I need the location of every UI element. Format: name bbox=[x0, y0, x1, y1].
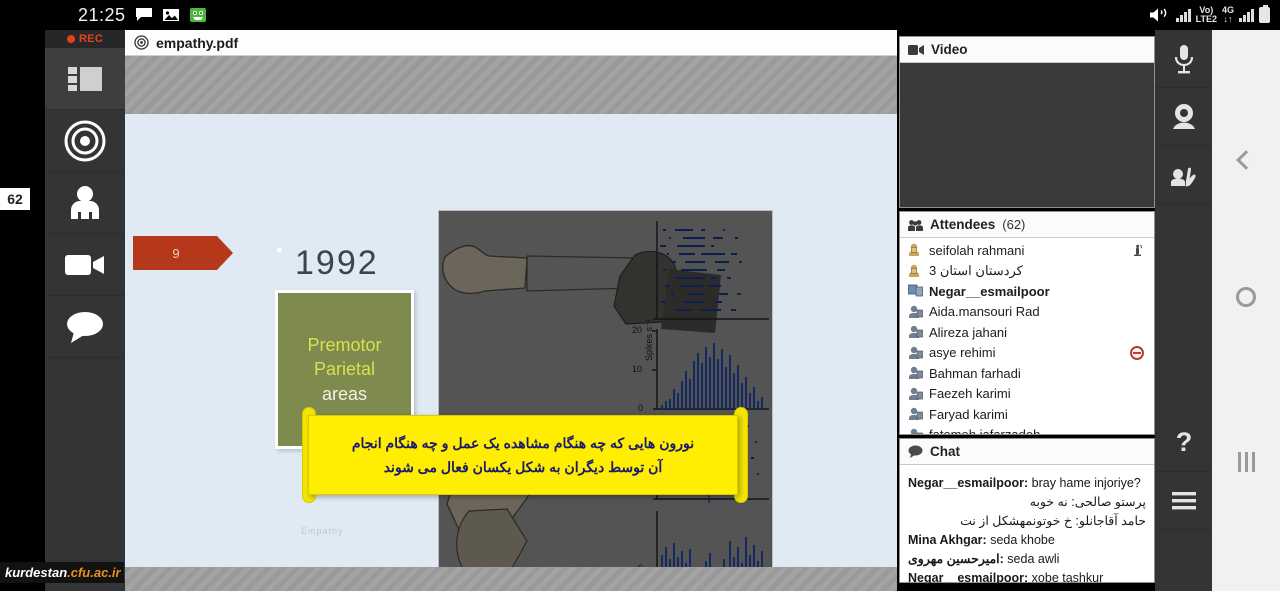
chat-bubble-icon bbox=[908, 445, 923, 458]
attendee-name: Negar__esmailpoor bbox=[929, 284, 1050, 299]
chat-message-text: xobe tashkur bbox=[1032, 571, 1104, 585]
toolbar-help-button[interactable]: ? bbox=[1155, 414, 1212, 472]
toolbar-menu-button[interactable] bbox=[1155, 472, 1212, 530]
document-titlebar: empathy.pdf bbox=[125, 30, 897, 56]
video-panel-header: Video bbox=[900, 37, 1154, 63]
slide-page-number: 9 bbox=[172, 246, 193, 261]
recording-indicator: REC bbox=[45, 30, 125, 48]
webcam-icon bbox=[1169, 102, 1199, 132]
chat-message-text: پرستو صالحی: نه خوبه bbox=[1030, 495, 1146, 509]
sidebar-item-attendees[interactable]: 62 bbox=[45, 172, 125, 234]
document-title: empathy.pdf bbox=[156, 35, 238, 51]
network-type-lte-label: Vo) LTE2 bbox=[1196, 6, 1217, 24]
attendee-row[interactable]: fatemeh jafarzadeh bbox=[900, 425, 1154, 435]
chat-messages[interactable]: Negar__esmailpoor: bray hame injoriye?پر… bbox=[900, 470, 1154, 587]
attendee-name: Bahman farhadi bbox=[929, 366, 1021, 381]
toolbar-webcam-button[interactable] bbox=[1155, 88, 1212, 146]
attendee-name: کردستان استان 3 bbox=[929, 263, 1023, 279]
attendee-name: seifolah rahmani bbox=[929, 243, 1024, 258]
attendee-row[interactable]: Aida.mansouri Rad bbox=[900, 302, 1154, 323]
watermark-part1: kurdestan bbox=[5, 565, 67, 580]
attendees-panel-header: Attendees (62) bbox=[900, 212, 1154, 238]
speaker-mute-icon bbox=[1149, 7, 1171, 23]
attendee-name: Aida.mansouri Rad bbox=[929, 304, 1040, 319]
status-bar-right: Vo) LTE2 4G ↓↑ bbox=[1149, 0, 1270, 30]
video-panel: Video bbox=[899, 36, 1155, 208]
battery-icon bbox=[1259, 7, 1270, 23]
attendee-row[interactable]: seifolah rahmani bbox=[900, 240, 1154, 261]
stage-bottom-hatch bbox=[125, 567, 897, 591]
user-icon bbox=[908, 428, 923, 434]
watermark-part2: .cfu.ac.ir bbox=[67, 565, 120, 580]
user-icon bbox=[908, 407, 923, 421]
sidebar-item-chat[interactable] bbox=[45, 296, 125, 358]
network-type-4g-label: 4G ↓↑ bbox=[1222, 6, 1234, 24]
histogram-bottom bbox=[653, 511, 769, 569]
back-icon bbox=[1236, 150, 1256, 170]
chat-message: Mina Akhgar: seda khobe bbox=[908, 531, 1146, 550]
chat-message: حامد آقاجانلو: خ خوتونمهشکل از نت bbox=[908, 512, 1146, 531]
presentation-stage: empathy.pdf 9 1992 Premotor Parietal are… bbox=[125, 30, 897, 591]
slide-year-heading: 1992 bbox=[295, 244, 379, 283]
microphone-icon bbox=[1172, 43, 1196, 75]
attendee-name: Faezeh karimi bbox=[929, 386, 1011, 401]
user-icon bbox=[908, 305, 923, 319]
user-icon bbox=[908, 366, 923, 380]
android-status-bar: 21:25 Vo) LTE2 bbox=[0, 0, 1280, 30]
callout-line1: نورون هایی که چه هنگام مشاهده یک عمل و چ… bbox=[352, 431, 694, 455]
hand-illustration-top bbox=[443, 246, 721, 333]
attendee-name: fatemeh jafarzadeh bbox=[929, 427, 1040, 434]
menu-icon bbox=[1170, 489, 1198, 513]
game-app-icon bbox=[189, 7, 207, 23]
chat-message-text: seda khobe bbox=[990, 533, 1055, 547]
toolbar-raisehand-button[interactable] bbox=[1155, 146, 1212, 204]
chat-panel: Chat Negar__esmailpoor: bray hame injori… bbox=[899, 438, 1155, 583]
signal-bars-2-icon bbox=[1239, 9, 1254, 22]
chat-message: Negar__esmailpoor: bray hame injoriye? bbox=[908, 474, 1146, 493]
slide-footer: Empathy bbox=[301, 526, 344, 536]
message-icon bbox=[135, 7, 153, 23]
nav-back-button[interactable] bbox=[1212, 130, 1280, 190]
attendee-row[interactable]: Bahman farhadi bbox=[900, 363, 1154, 384]
attendees-person-icon bbox=[65, 183, 105, 223]
android-nav-bar bbox=[1212, 30, 1280, 591]
attendees-panel-count: (62) bbox=[1002, 217, 1025, 232]
chat-message-text: bray hame injoriye? bbox=[1032, 476, 1141, 490]
attendee-name: asye rehimi bbox=[929, 345, 995, 360]
slide-canvas[interactable]: 9 1992 Premotor Parietal areas bbox=[125, 114, 897, 567]
chat-message-author: امیرحسین مهروی: bbox=[908, 552, 1007, 566]
attendee-name: Faryad karimi bbox=[929, 407, 1008, 422]
record-target-icon bbox=[64, 120, 106, 162]
recents-icon bbox=[1238, 452, 1255, 472]
attendees-panel: Attendees (62) seifolah rahmaniکردستان ا… bbox=[899, 211, 1155, 435]
chat-message: Negar__esmailpoor: xobe tashkur bbox=[908, 569, 1146, 587]
status-bar-left: 21:25 bbox=[78, 0, 207, 30]
attendees-group-icon bbox=[908, 219, 923, 231]
slide-figure: Spikes s⁻¹ 20 10 0 0 1 sec bbox=[438, 210, 773, 591]
video-panel-title: Video bbox=[931, 42, 968, 57]
attendees-list[interactable]: seifolah rahmaniکردستان استان 3Negar__es… bbox=[900, 238, 1154, 434]
callout-line2: آن توسط دیگران به شکل یکسان فعال می شوند bbox=[384, 455, 663, 479]
rec-dot-icon bbox=[67, 35, 75, 43]
user-icon bbox=[908, 325, 923, 339]
sidebar-item-video[interactable] bbox=[45, 234, 125, 296]
attendee-row[interactable]: Faezeh karimi bbox=[900, 384, 1154, 405]
left-toolbar: REC 62 bbox=[45, 30, 125, 591]
layout-icon bbox=[66, 64, 104, 94]
status-clock: 21:25 bbox=[78, 5, 126, 26]
figure-ytick-10: 10 bbox=[632, 364, 642, 374]
chat-message-author: Negar__esmailpoor: bbox=[908, 571, 1032, 585]
home-icon bbox=[1236, 287, 1256, 307]
figure-graphics bbox=[439, 211, 773, 591]
raise-hand-icon bbox=[1169, 161, 1199, 189]
attendee-name: Alireza jahani bbox=[929, 325, 1007, 340]
video-feed-area[interactable] bbox=[900, 63, 1154, 207]
help-icon: ? bbox=[1172, 427, 1196, 459]
sidebar-item-layout[interactable] bbox=[45, 48, 125, 110]
signal-bars-1-icon bbox=[1176, 9, 1191, 22]
chat-message-text: seda awli bbox=[1007, 552, 1059, 566]
nav-home-button[interactable] bbox=[1212, 267, 1280, 327]
spiral-target-icon bbox=[134, 35, 149, 50]
presenter-icon bbox=[908, 284, 923, 298]
user-icon bbox=[908, 387, 923, 401]
right-toolbar: ? bbox=[1155, 30, 1212, 591]
chat-message-author: Mina Akhgar: bbox=[908, 533, 990, 547]
site-watermark: kurdestan .cfu.ac.ir bbox=[0, 562, 124, 583]
rec-label: REC bbox=[79, 33, 103, 45]
toolbar-microphone-button[interactable] bbox=[1155, 30, 1212, 88]
attendees-count-badge: 62 bbox=[0, 188, 30, 210]
green-box-line3: areas bbox=[322, 381, 367, 407]
locked-user-icon bbox=[908, 264, 923, 278]
user-icon bbox=[908, 346, 923, 360]
left-toolbar-filler bbox=[45, 358, 125, 591]
chat-message-text: حامد آقاجانلو: خ خوتونمهشکل از نت bbox=[960, 514, 1146, 528]
muted-icon[interactable] bbox=[1130, 346, 1144, 360]
chat-message-author: Negar__esmailpoor: bbox=[908, 476, 1032, 490]
figure-ytick-20: 20 bbox=[632, 325, 642, 335]
stage-top-hatch bbox=[125, 56, 897, 114]
screen-root: 21:25 Vo) LTE2 bbox=[0, 0, 1280, 591]
figure-ylabel: Spikes s⁻¹ bbox=[644, 319, 655, 361]
attendee-row[interactable]: Faryad karimi bbox=[900, 404, 1154, 425]
chat-message: امیرحسین مهروی: seda awli bbox=[908, 550, 1146, 569]
video-camera-icon bbox=[908, 44, 924, 56]
attendee-row[interactable]: asye rehimi bbox=[900, 343, 1154, 364]
green-box-line2: Parietal bbox=[314, 357, 375, 381]
attendee-row[interactable]: کردستان استان 3 bbox=[900, 261, 1154, 282]
svg-text:?: ? bbox=[1175, 427, 1192, 457]
nav-recents-button[interactable] bbox=[1212, 432, 1280, 492]
locked-user-icon bbox=[908, 243, 923, 257]
figure-ytick-0: 0 bbox=[638, 403, 643, 413]
attendee-row[interactable]: Negar__esmailpoor bbox=[900, 281, 1154, 302]
attendees-panel-title: Attendees bbox=[930, 217, 995, 232]
chat-bubble-icon bbox=[65, 310, 105, 344]
green-box-line1: Premotor bbox=[307, 333, 381, 357]
slide-page-banner: 9 bbox=[133, 236, 233, 270]
histogram-top bbox=[652, 329, 769, 409]
gallery-icon bbox=[162, 7, 180, 23]
sidebar-item-recording[interactable] bbox=[45, 110, 125, 172]
chat-panel-header: Chat bbox=[900, 439, 1154, 465]
right-toolbar-filler bbox=[1155, 204, 1212, 414]
video-camera-icon bbox=[63, 250, 107, 280]
chat-message: پرستو صالحی: نه خوبه bbox=[908, 493, 1146, 512]
raise-hand-icon[interactable] bbox=[1131, 243, 1145, 257]
attendee-row[interactable]: Alireza jahani bbox=[900, 322, 1154, 343]
slide-callout: نورون هایی که چه هنگام مشاهده یک عمل و چ… bbox=[308, 415, 738, 495]
chat-panel-title: Chat bbox=[930, 444, 960, 459]
